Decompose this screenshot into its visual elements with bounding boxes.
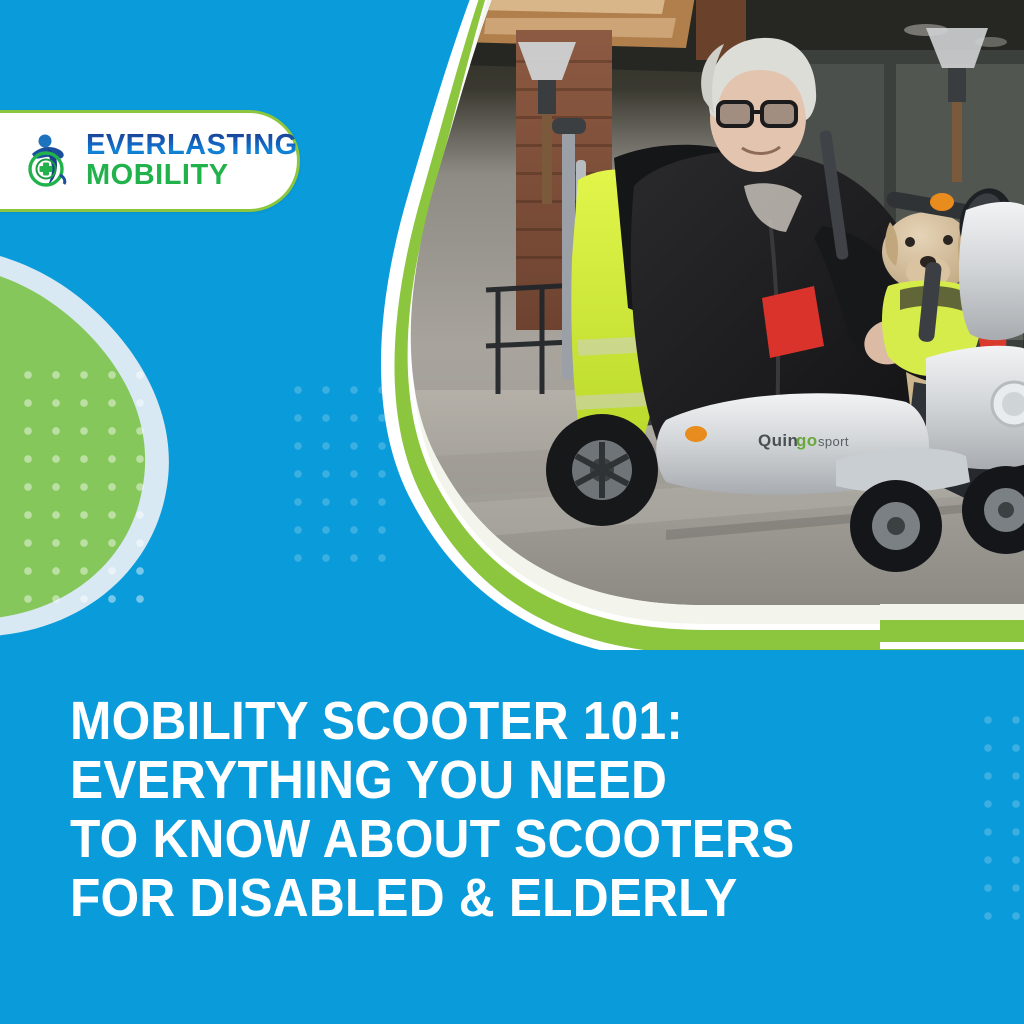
logo-line-everlasting: EVERLASTING [86, 132, 298, 160]
green-rounded-blob [0, 240, 240, 640]
mobility-scooter-hero-photo: Quin go sport [366, 0, 1024, 650]
headline-line-4: FOR DISABLED & ELDERLY [70, 869, 898, 928]
banner-canvas: Quin go sport [0, 0, 1024, 1024]
svg-text:Quin: Quin [758, 431, 798, 450]
page-title: MOBILITY SCOOTER 101: EVERYTHING YOU NEE… [70, 692, 898, 927]
band-cream-right [880, 604, 1024, 620]
headline-line-2: EVERYTHING YOU NEED [70, 751, 898, 810]
band-white-right [880, 642, 1024, 649]
svg-text:sport: sport [818, 434, 849, 449]
wheelchair-person-medical-cross-icon [26, 133, 78, 189]
svg-text:go: go [796, 431, 818, 450]
band-green-right [880, 620, 1024, 642]
logo-line-mobility: MOBILITY [86, 162, 298, 190]
headline-line-3: TO KNOW ABOUT SCOOTERS [70, 810, 898, 869]
everlasting-mobility-logo[interactable]: EVERLASTING MOBILITY [0, 110, 300, 212]
headline-line-1: MOBILITY SCOOTER 101: [70, 692, 898, 751]
dot-grid-pattern-right [968, 700, 1024, 930]
